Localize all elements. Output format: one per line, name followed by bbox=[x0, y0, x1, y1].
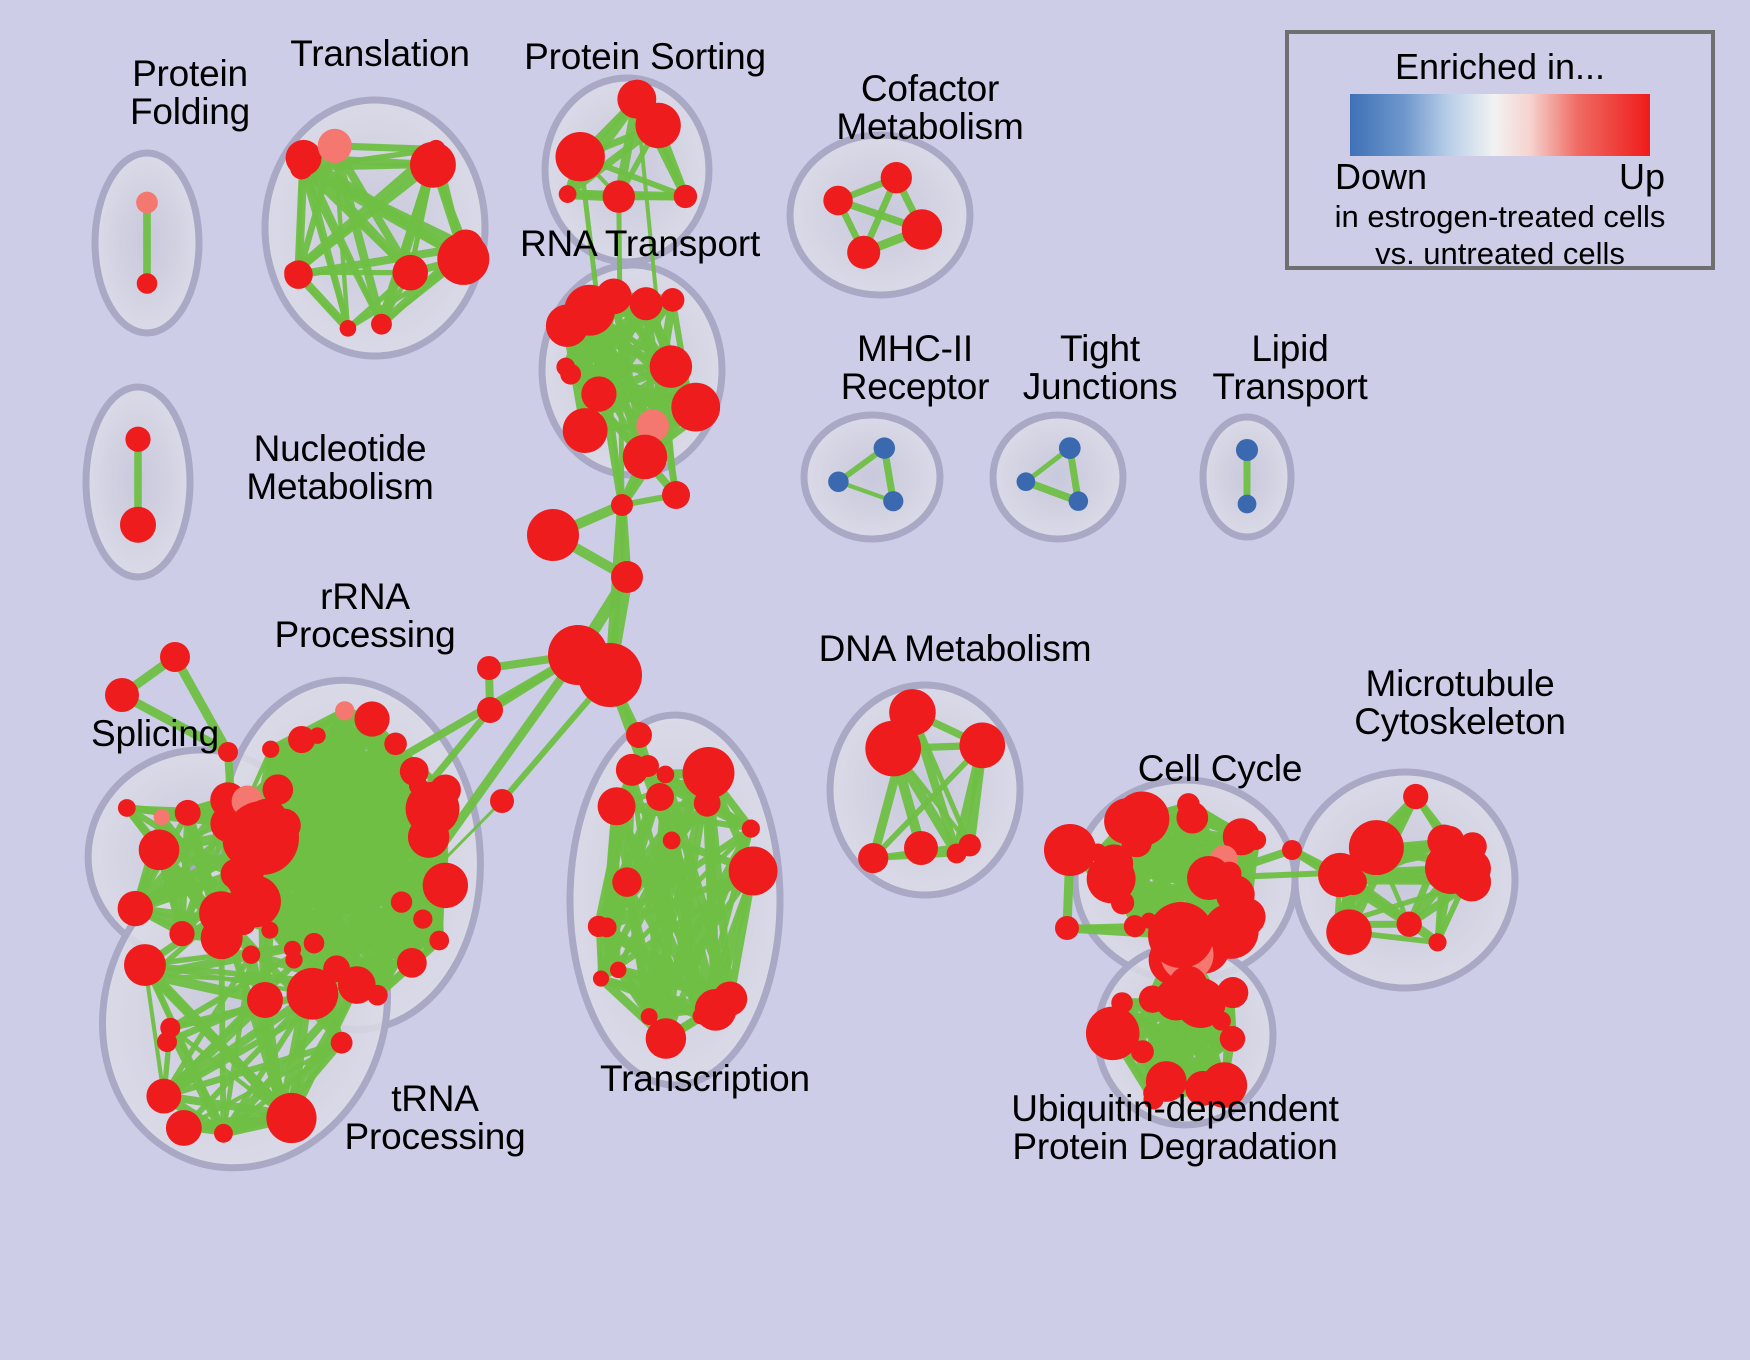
cluster-label-cell-cycle: Cell Cycle bbox=[1095, 750, 1345, 788]
network-node-bridge bbox=[105, 678, 139, 712]
network-node-rna-transport bbox=[623, 435, 667, 479]
cluster-label-rrna-processing: rRNA Processing bbox=[240, 578, 490, 655]
cluster-label-splicing: Splicing bbox=[55, 715, 255, 753]
network-node-bridge bbox=[662, 481, 690, 509]
legend-box: Enriched in... Down Up in estrogen-treat… bbox=[1285, 30, 1715, 270]
network-node-transcription bbox=[693, 1008, 710, 1025]
network-node-bridge bbox=[646, 783, 674, 811]
network-node-microtubule-cytoskeleton bbox=[1349, 820, 1404, 875]
network-node-bridge bbox=[611, 494, 633, 516]
network-node-bridge bbox=[225, 801, 299, 875]
network-node-tight-junctions bbox=[1017, 472, 1036, 491]
network-node-dna-metabolism bbox=[947, 844, 967, 864]
network-node-rrna-processing bbox=[284, 941, 301, 958]
network-node-ubiquitin-protein-degradation bbox=[1086, 1007, 1140, 1061]
cluster-label-ubiquitin-protein-degradation: Ubiquitin-dependent Protein Degradation bbox=[975, 1090, 1375, 1167]
network-node-bridge bbox=[637, 755, 659, 777]
network-node-bridge bbox=[527, 509, 579, 561]
network-node-protein-sorting bbox=[559, 185, 577, 203]
cluster-label-protein-sorting: Protein Sorting bbox=[500, 38, 790, 76]
legend-high-label: Up bbox=[1619, 156, 1665, 198]
network-node-bridge bbox=[611, 561, 643, 593]
network-node-bridge bbox=[160, 642, 190, 672]
network-node-splicing bbox=[118, 799, 136, 817]
network-node-rna-transport bbox=[581, 376, 616, 411]
network-node-protein-sorting bbox=[603, 180, 635, 212]
network-node-protein-sorting bbox=[555, 132, 604, 181]
network-node-lipid-transport bbox=[1238, 495, 1257, 514]
network-node-tight-junctions bbox=[1059, 437, 1081, 459]
network-node-cofactor-metabolism bbox=[823, 186, 852, 215]
network-node-transcription bbox=[646, 1018, 686, 1058]
network-node-rna-transport bbox=[650, 345, 692, 387]
network-node-translation bbox=[290, 156, 313, 179]
network-node-microtubule-cytoskeleton bbox=[1428, 933, 1446, 951]
network-node-rrna-processing bbox=[237, 879, 278, 920]
network-node-ubiquitin-protein-degradation bbox=[1111, 992, 1133, 1014]
network-node-trna-processing bbox=[338, 966, 376, 1004]
network-node-nucleotide-metabolism bbox=[125, 427, 150, 452]
network-node-trna-processing bbox=[143, 967, 160, 984]
network-node-cofactor-metabolism bbox=[881, 162, 912, 193]
legend-title: Enriched in... bbox=[1315, 46, 1685, 88]
network-node-transcription bbox=[663, 832, 681, 850]
network-node-rna-transport bbox=[671, 383, 720, 432]
network-node-bridge bbox=[1187, 856, 1231, 900]
network-node-bridge bbox=[490, 789, 514, 813]
cluster-label-translation: Translation bbox=[255, 35, 505, 73]
network-node-transcription bbox=[657, 766, 675, 784]
network-node-nucleotide-metabolism bbox=[120, 507, 156, 543]
network-node-microtubule-cytoskeleton bbox=[1403, 784, 1428, 809]
network-node-rrna-processing bbox=[288, 726, 315, 753]
network-node-splicing bbox=[139, 829, 180, 870]
network-node-rna-transport bbox=[563, 408, 608, 453]
cluster-label-rna-transport: RNA Transport bbox=[490, 225, 790, 263]
network-node-translation bbox=[318, 129, 352, 163]
network-node-bridge bbox=[1282, 840, 1302, 860]
network-node-trna-processing bbox=[214, 1124, 233, 1143]
network-node-rrna-processing bbox=[429, 931, 449, 951]
network-node-protein-folding bbox=[137, 273, 158, 294]
network-node-rna-transport bbox=[583, 304, 600, 321]
network-node-cell-cycle bbox=[1176, 802, 1208, 834]
network-node-rrna-processing bbox=[262, 741, 279, 758]
network-node-rna-transport bbox=[661, 288, 685, 312]
cluster-blob-tight-junctions bbox=[993, 415, 1123, 539]
network-node-mhc-ii-receptor bbox=[883, 491, 903, 511]
network-node-bridge bbox=[1148, 902, 1214, 968]
cluster-label-microtubule-cytoskeleton: Microtubule Cytoskeleton bbox=[1300, 665, 1620, 742]
network-node-trna-processing bbox=[146, 1079, 181, 1114]
network-node-ubiquitin-protein-degradation bbox=[1212, 1011, 1231, 1030]
cluster-label-nucleotide-metabolism: Nucleotide Metabolism bbox=[195, 430, 485, 507]
network-node-rrna-processing bbox=[397, 948, 427, 978]
network-node-transcription bbox=[612, 867, 641, 896]
network-node-bridge bbox=[904, 831, 938, 865]
network-node-bridge bbox=[477, 656, 501, 680]
network-node-translation bbox=[340, 320, 357, 337]
legend-low-label: Down bbox=[1335, 156, 1427, 198]
network-node-transcription bbox=[598, 787, 636, 825]
network-node-rrna-processing bbox=[384, 733, 407, 756]
network-node-rna-transport bbox=[629, 287, 662, 320]
network-node-rrna-processing bbox=[391, 891, 412, 912]
network-node-transcription bbox=[610, 962, 626, 978]
network-node-bridge bbox=[1044, 824, 1096, 876]
network-node-transcription bbox=[742, 820, 760, 838]
network-node-rrna-processing bbox=[354, 701, 389, 736]
network-node-tight-junctions bbox=[1069, 491, 1089, 511]
network-node-transcription bbox=[694, 790, 721, 817]
network-node-rrna-processing bbox=[408, 816, 449, 857]
network-node-rrna-processing bbox=[423, 863, 468, 908]
network-node-microtubule-cytoskeleton bbox=[1328, 916, 1345, 933]
network-node-bridge bbox=[626, 722, 652, 748]
network-node-trna-processing bbox=[287, 968, 339, 1020]
network-node-trna-processing bbox=[199, 891, 243, 935]
network-node-splicing bbox=[154, 809, 170, 825]
network-node-translation bbox=[371, 314, 392, 335]
network-node-microtubule-cytoskeleton bbox=[1397, 912, 1422, 937]
cluster-label-lipid-transport: Lipid Transport bbox=[1175, 330, 1405, 407]
legend-caption-line1: in estrogen-treated cells bbox=[1315, 200, 1685, 235]
network-node-protein-folding bbox=[136, 192, 158, 214]
network-node-translation bbox=[392, 255, 428, 291]
network-node-splicing bbox=[118, 891, 153, 926]
network-node-translation bbox=[427, 140, 446, 159]
network-node-rrna-processing bbox=[263, 774, 294, 805]
network-node-microtubule-cytoskeleton bbox=[1326, 909, 1372, 955]
network-node-lipid-transport bbox=[1236, 439, 1258, 461]
network-node-mhc-ii-receptor bbox=[874, 437, 895, 458]
network-node-protein-sorting bbox=[635, 103, 680, 148]
network-node-trna-processing bbox=[166, 1110, 202, 1146]
cluster-label-cofactor-metabolism: Cofactor Metabolism bbox=[785, 70, 1075, 147]
network-node-protein-sorting bbox=[674, 185, 697, 208]
cluster-blob-mhc-ii-receptor bbox=[804, 415, 940, 539]
cluster-label-dna-metabolism: DNA Metabolism bbox=[805, 630, 1105, 668]
network-node-rrna-processing bbox=[335, 701, 354, 720]
network-node-bridge bbox=[157, 1032, 177, 1052]
network-node-dna-metabolism bbox=[858, 843, 888, 873]
network-node-rna-transport bbox=[596, 278, 632, 314]
network-node-rrna-processing bbox=[430, 774, 461, 805]
network-node-cofactor-metabolism bbox=[847, 236, 880, 269]
network-node-cofactor-metabolism bbox=[902, 209, 942, 249]
network-node-dna-metabolism bbox=[959, 723, 1005, 769]
network-node-mhc-ii-receptor bbox=[828, 471, 849, 492]
network-node-rrna-processing bbox=[413, 909, 432, 928]
network-node-bridge bbox=[1436, 826, 1464, 854]
network-figure: Protein FoldingTranslationNucleotide Met… bbox=[0, 0, 1750, 1360]
network-node-transcription bbox=[729, 847, 778, 896]
network-node-transcription bbox=[593, 970, 609, 986]
network-node-bridge bbox=[247, 982, 283, 1018]
network-node-translation bbox=[284, 262, 304, 282]
network-node-dna-metabolism bbox=[889, 689, 936, 736]
network-node-transcription bbox=[597, 917, 617, 937]
network-node-splicing bbox=[169, 921, 194, 946]
network-node-trna-processing bbox=[304, 933, 325, 954]
network-node-cell-cycle bbox=[1246, 830, 1266, 850]
network-node-rna-transport bbox=[560, 364, 581, 385]
network-node-ubiquitin-protein-degradation bbox=[1222, 984, 1238, 1000]
network-node-bridge bbox=[477, 697, 503, 723]
network-node-bridge bbox=[578, 643, 642, 707]
cluster-label-transcription: Transcription bbox=[565, 1060, 845, 1098]
network-node-trna-processing bbox=[270, 1102, 292, 1124]
network-node-trna-processing bbox=[331, 1032, 353, 1054]
cluster-label-trna-processing: tRNA Processing bbox=[310, 1080, 560, 1157]
legend-caption-line2: vs. untreated cells bbox=[1315, 237, 1685, 272]
network-node-trna-processing bbox=[242, 946, 260, 964]
network-node-cell-cycle bbox=[1115, 792, 1169, 846]
network-node-translation bbox=[448, 229, 483, 264]
network-node-bridge bbox=[1055, 916, 1079, 940]
legend-colorbar bbox=[1350, 94, 1650, 156]
network-node-splicing bbox=[175, 800, 201, 826]
